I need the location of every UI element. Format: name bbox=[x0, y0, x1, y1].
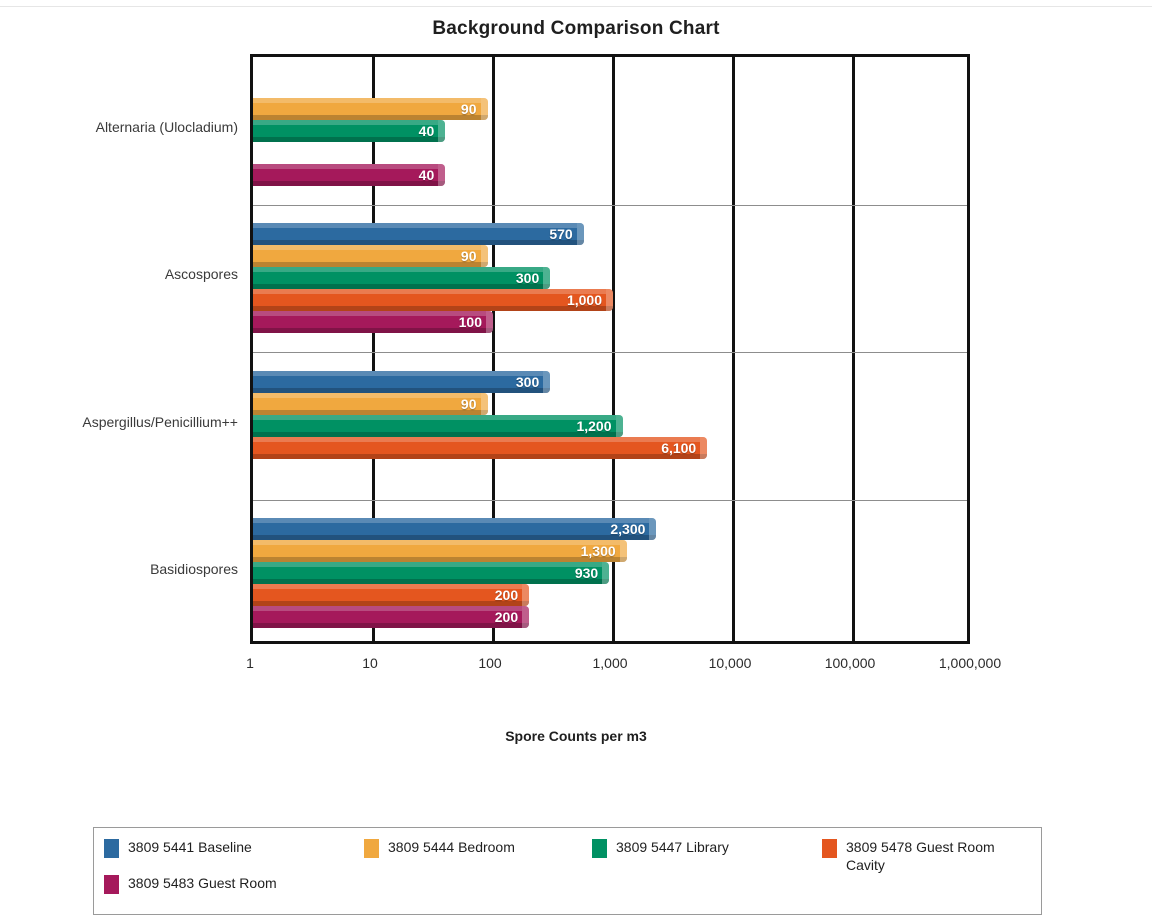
bar[interactable]: 90 bbox=[253, 393, 488, 415]
x-tick-label: 1,000 bbox=[592, 655, 627, 671]
bar-end-cap bbox=[438, 120, 445, 142]
bar-row: 1,000 bbox=[253, 289, 967, 311]
bar-row: 6,100 bbox=[253, 437, 967, 459]
bar-group: 2,3001,300930200200 bbox=[253, 518, 967, 628]
bar-value-label: 90 bbox=[461, 101, 477, 117]
bar-row: 570 bbox=[253, 223, 967, 245]
bar-row: 930 bbox=[253, 562, 967, 584]
bar-row: 200 bbox=[253, 584, 967, 606]
bar[interactable]: 1,300 bbox=[253, 540, 627, 562]
bar-end-cap bbox=[649, 518, 656, 540]
bar-value-label: 1,200 bbox=[576, 418, 611, 434]
legend-label: 3809 5441 Baseline bbox=[128, 838, 252, 856]
bar-end-cap bbox=[481, 393, 488, 415]
bar-value-label: 90 bbox=[461, 248, 477, 264]
bar[interactable]: 200 bbox=[253, 606, 529, 628]
legend-item[interactable]: 3809 5444 Bedroom bbox=[364, 838, 515, 858]
bar-gloss bbox=[253, 311, 486, 316]
top-divider bbox=[0, 6, 1152, 7]
bar-gloss bbox=[253, 164, 438, 169]
bar-row: 200 bbox=[253, 606, 967, 628]
category-separator bbox=[253, 500, 967, 501]
category-axis-labels: Alternaria (Ulocladium)AscosporesAspergi… bbox=[0, 54, 244, 644]
bar[interactable]: 200 bbox=[253, 584, 529, 606]
bar[interactable]: 300 bbox=[253, 371, 550, 393]
x-axis-title: Spore Counts per m3 bbox=[0, 728, 1152, 744]
bar-value-label: 40 bbox=[419, 123, 435, 139]
bar-row: 90 bbox=[253, 393, 967, 415]
bar[interactable]: 90 bbox=[253, 98, 488, 120]
bar[interactable]: 40 bbox=[253, 120, 445, 142]
bar-value-label: 200 bbox=[495, 609, 518, 625]
bar-value-label: 40 bbox=[419, 167, 435, 183]
bar[interactable]: 1,000 bbox=[253, 289, 613, 311]
bar[interactable]: 2,300 bbox=[253, 518, 656, 540]
x-tick-label: 10,000 bbox=[709, 655, 752, 671]
x-tick-label: 10 bbox=[362, 655, 378, 671]
category-separator bbox=[253, 205, 967, 206]
category-label: Basidiospores bbox=[150, 561, 238, 577]
bar[interactable]: 6,100 bbox=[253, 437, 707, 459]
bar-value-label: 200 bbox=[495, 587, 518, 603]
bar-group: 904040 bbox=[253, 76, 967, 186]
bar-value-label: 6,100 bbox=[661, 440, 696, 456]
bar-row: 300 bbox=[253, 371, 967, 393]
bar-gloss bbox=[253, 606, 522, 611]
bar-value-label: 2,300 bbox=[610, 521, 645, 537]
legend-item[interactable]: 3809 5441 Baseline bbox=[104, 838, 252, 858]
bar-value-label: 300 bbox=[516, 270, 539, 286]
legend-label: 3809 5483 Guest Room bbox=[128, 874, 277, 892]
bar-group: 300901,2006,100 bbox=[253, 371, 967, 481]
bar-gloss bbox=[253, 245, 481, 250]
bar-end-cap bbox=[522, 606, 529, 628]
x-tick-label: 1,000,000 bbox=[939, 655, 1001, 671]
bar-row bbox=[253, 142, 967, 164]
bar-value-label: 300 bbox=[516, 374, 539, 390]
bar-end-cap bbox=[602, 562, 609, 584]
bar[interactable]: 40 bbox=[253, 164, 445, 186]
bar-gloss bbox=[253, 437, 700, 442]
bar-end-cap bbox=[620, 540, 627, 562]
legend-swatch-icon bbox=[364, 839, 379, 858]
legend-row: 3809 5483 Guest Room bbox=[94, 874, 1041, 910]
bar-gloss bbox=[253, 289, 606, 294]
legend-item[interactable]: 3809 5447 Library bbox=[592, 838, 729, 858]
chart-title: Background Comparison Chart bbox=[0, 18, 1152, 40]
bar-end-cap bbox=[438, 164, 445, 186]
plot-area: 904040570903001,000100300901,2006,1002,3… bbox=[250, 54, 970, 644]
x-axis-tick-labels: 1101001,00010,000100,0001,000,000 bbox=[0, 655, 1152, 679]
legend-label: 3809 5447 Library bbox=[616, 838, 729, 856]
bar[interactable]: 1,200 bbox=[253, 415, 623, 437]
bar-gloss bbox=[253, 393, 481, 398]
bar-end-cap bbox=[543, 371, 550, 393]
bar-gloss bbox=[253, 415, 616, 420]
bar-gloss bbox=[253, 267, 543, 272]
bar-end-cap bbox=[481, 98, 488, 120]
category-label: Ascospores bbox=[165, 266, 238, 282]
bar-row: 1,200 bbox=[253, 415, 967, 437]
chart-page: Background Comparison Chart Alternaria (… bbox=[0, 0, 1152, 920]
bar-value-label: 1,300 bbox=[581, 543, 616, 559]
bar-row: 90 bbox=[253, 245, 967, 267]
category-label: Alternaria (Ulocladium) bbox=[96, 119, 238, 135]
bar-shadow bbox=[253, 181, 445, 186]
x-tick-label: 1 bbox=[246, 655, 254, 671]
bar-shadow bbox=[253, 328, 493, 333]
bar[interactable]: 100 bbox=[253, 311, 493, 333]
category-separator bbox=[253, 352, 967, 353]
bar-row: 90 bbox=[253, 98, 967, 120]
x-tick-label: 100,000 bbox=[825, 655, 876, 671]
bar-group: 570903001,000100 bbox=[253, 223, 967, 333]
bar-end-cap bbox=[522, 584, 529, 606]
bar-shadow bbox=[253, 623, 529, 628]
bar-gloss bbox=[253, 371, 543, 376]
bar-end-cap bbox=[577, 223, 584, 245]
chart-legend: 3809 5441 Baseline3809 5444 Bedroom3809 … bbox=[93, 827, 1042, 915]
bar-value-label: 90 bbox=[461, 396, 477, 412]
bar-gloss bbox=[253, 562, 602, 567]
legend-swatch-icon bbox=[592, 839, 607, 858]
bar-gloss bbox=[253, 584, 522, 589]
legend-label: 3809 5478 Guest Room Cavity bbox=[846, 838, 1036, 874]
bar-row bbox=[253, 76, 967, 98]
bar-gloss bbox=[253, 540, 620, 545]
legend-swatch-icon bbox=[104, 875, 119, 894]
bar-end-cap bbox=[606, 289, 613, 311]
legend-swatch-icon bbox=[822, 839, 837, 858]
bar-value-label: 930 bbox=[575, 565, 598, 581]
legend-item[interactable]: 3809 5483 Guest Room bbox=[104, 874, 277, 894]
bar[interactable]: 90 bbox=[253, 245, 488, 267]
bar-row bbox=[253, 459, 967, 481]
bar-value-label: 1,000 bbox=[567, 292, 602, 308]
bar-row: 40 bbox=[253, 164, 967, 186]
bar-row: 100 bbox=[253, 311, 967, 333]
bar-row: 300 bbox=[253, 267, 967, 289]
bar-gloss bbox=[253, 518, 649, 523]
bar-end-cap bbox=[543, 267, 550, 289]
legend-row: 3809 5441 Baseline3809 5444 Bedroom3809 … bbox=[94, 838, 1041, 874]
bar-end-cap bbox=[486, 311, 493, 333]
x-tick-label: 100 bbox=[478, 655, 501, 671]
bar[interactable]: 930 bbox=[253, 562, 609, 584]
bar-gloss bbox=[253, 98, 481, 103]
legend-item[interactable]: 3809 5478 Guest Room Cavity bbox=[822, 838, 1036, 874]
bar-value-label: 100 bbox=[459, 314, 482, 330]
bar-row: 1,300 bbox=[253, 540, 967, 562]
bar[interactable]: 300 bbox=[253, 267, 550, 289]
bar-gloss bbox=[253, 120, 438, 125]
bar-row: 40 bbox=[253, 120, 967, 142]
legend-label: 3809 5444 Bedroom bbox=[388, 838, 515, 856]
bar-end-cap bbox=[700, 437, 707, 459]
bar-row: 2,300 bbox=[253, 518, 967, 540]
plot-inner: 904040570903001,000100300901,2006,1002,3… bbox=[253, 57, 967, 641]
bar-gloss bbox=[253, 223, 577, 228]
category-label: Aspergillus/Penicillium++ bbox=[82, 414, 238, 430]
bar-value-label: 570 bbox=[549, 226, 572, 242]
bar-end-cap bbox=[481, 245, 488, 267]
bar-end-cap bbox=[616, 415, 623, 437]
legend-swatch-icon bbox=[104, 839, 119, 858]
bar[interactable]: 570 bbox=[253, 223, 584, 245]
